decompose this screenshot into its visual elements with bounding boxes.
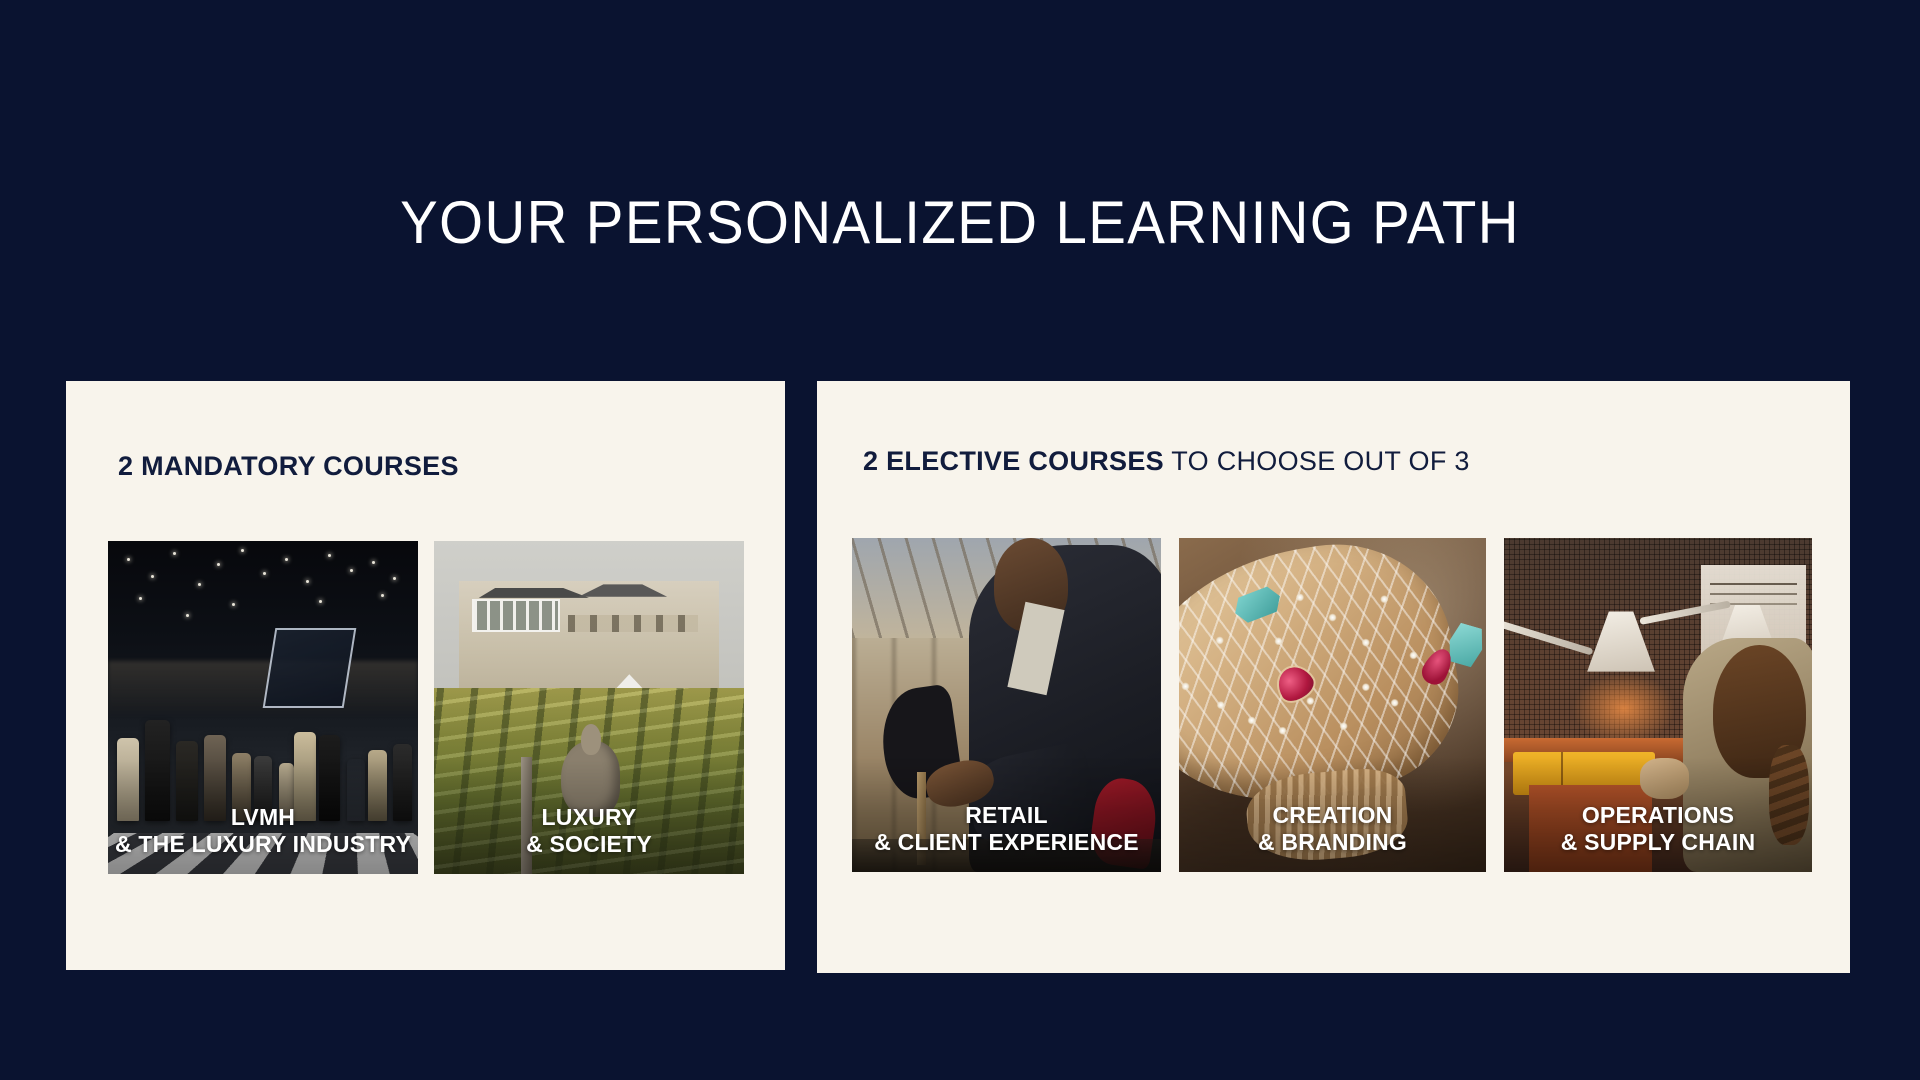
course-caption-lvmh-luxury-industry: LVMH & THE LUXURY INDUSTRY <box>108 804 418 858</box>
course-caption-creation-branding: CREATION & BRANDING <box>1179 802 1486 856</box>
elective-heading-strong: 2 ELECTIVE COURSES <box>863 446 1164 476</box>
mandatory-panel-heading: 2 MANDATORY COURSES <box>118 451 459 482</box>
course-line1: LUXURY <box>542 804 637 830</box>
course-line2: & SOCIETY <box>438 831 740 858</box>
course-line2: & THE LUXURY INDUSTRY <box>112 831 414 858</box>
page-title: YOUR PERSONALIZED LEARNING PATH <box>58 188 1863 257</box>
course-line1: OPERATIONS <box>1582 802 1734 828</box>
course-line2: & BRANDING <box>1183 829 1482 856</box>
course-card-creation-branding[interactable]: CREATION & BRANDING <box>1179 538 1486 872</box>
course-caption-operations-supply-chain: OPERATIONS & SUPPLY CHAIN <box>1504 802 1812 856</box>
course-card-lvmh-luxury-industry[interactable]: LVMH & THE LUXURY INDUSTRY <box>108 541 418 874</box>
elective-heading-light: TO CHOOSE OUT OF 3 <box>1164 446 1470 476</box>
course-caption-retail-client-experience: RETAIL & CLIENT EXPERIENCE <box>852 802 1161 856</box>
course-line2: & CLIENT EXPERIENCE <box>856 829 1157 856</box>
mandatory-heading-strong: 2 MANDATORY COURSES <box>118 451 459 481</box>
course-card-luxury-society[interactable]: LUXURY & SOCIETY <box>434 541 744 874</box>
course-card-operations-supply-chain[interactable]: OPERATIONS & SUPPLY CHAIN <box>1504 538 1812 872</box>
course-card-retail-client-experience[interactable]: RETAIL & CLIENT EXPERIENCE <box>852 538 1161 872</box>
course-line1: RETAIL <box>965 802 1048 828</box>
slide-root: YOUR PERSONALIZED LEARNING PATH 2 MANDAT… <box>0 0 1920 1080</box>
runway-lights-decor <box>108 541 418 681</box>
course-line1: LVMH <box>231 804 295 830</box>
elective-panel-heading: 2 ELECTIVE COURSES TO CHOOSE OUT OF 3 <box>863 446 1470 477</box>
course-caption-luxury-society: LUXURY & SOCIETY <box>434 804 744 858</box>
course-line2: & SUPPLY CHAIN <box>1508 829 1808 856</box>
course-line1: CREATION <box>1272 802 1392 828</box>
